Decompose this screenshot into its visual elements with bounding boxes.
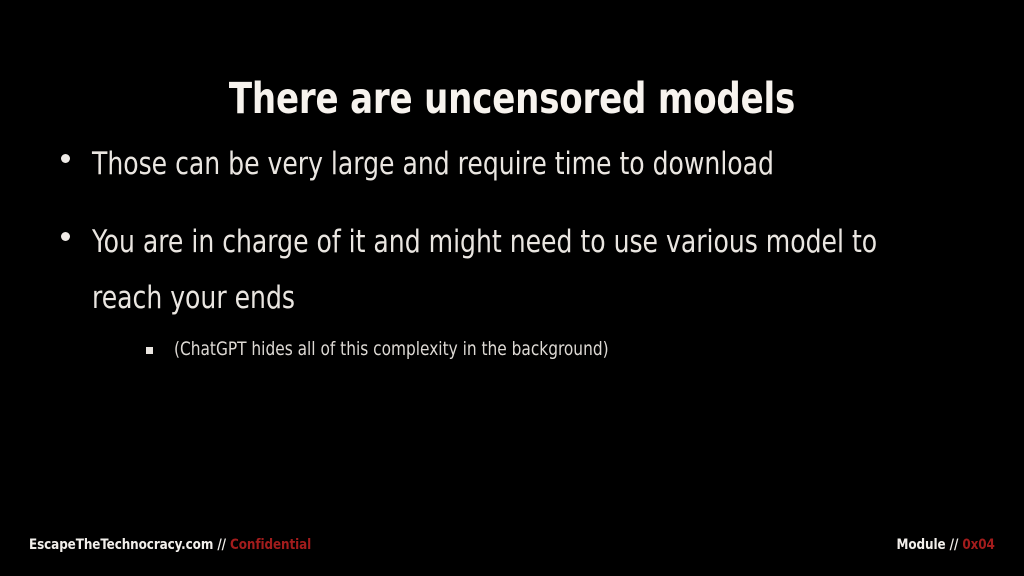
footer-left-group: EscapeTheTechnocracy.com // Confidential xyxy=(29,536,336,554)
bullet-text: Those can be very large and require time… xyxy=(92,136,884,192)
footer-right-content: Module // 0x04 xyxy=(897,536,995,554)
round-bullet-icon xyxy=(61,154,70,163)
bullet-text: You are in charge of it and might need t… xyxy=(92,214,884,326)
footer-site-label: EscapeTheTechnocracy.com xyxy=(29,537,213,553)
footer-right-group: Module // 0x04 xyxy=(888,536,995,554)
sub-list-item: (ChatGPT hides all of this complexity in… xyxy=(92,334,972,364)
footer-left-content: EscapeTheTechnocracy.com // Confidential xyxy=(29,536,311,554)
footer-separator: // xyxy=(946,537,963,553)
square-bullet-icon xyxy=(146,347,153,354)
module-value: 0x04 xyxy=(963,537,995,553)
bullet-list: Those can be very large and require time… xyxy=(52,136,972,386)
presentation-slide: There are uncensored models Those can be… xyxy=(0,0,1024,576)
footer-separator: // xyxy=(213,537,230,553)
list-item: Those can be very large and require time… xyxy=(52,136,972,192)
page-title: There are uncensored models xyxy=(61,73,962,125)
round-bullet-icon xyxy=(61,232,70,241)
slide-footer: EscapeTheTechnocracy.com // Confidential… xyxy=(0,528,1024,576)
status-badge: Confidential xyxy=(230,537,311,553)
sub-bullet-text: (ChatGPT hides all of this complexity in… xyxy=(174,334,892,364)
list-item: You are in charge of it and might need t… xyxy=(52,214,972,364)
module-label: Module xyxy=(897,537,946,553)
